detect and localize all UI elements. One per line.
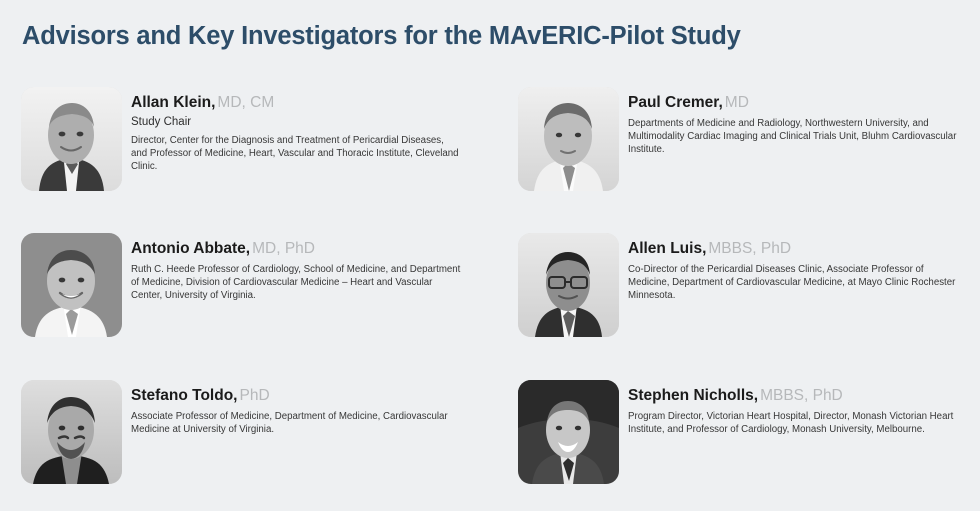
person-text: Antonio Abbate,MD, PhD Ruth C. Heede Pro… — [131, 233, 467, 303]
person-name: Stefano Toldo,PhD — [131, 386, 467, 405]
portrait-stephen-nicholls — [518, 380, 619, 484]
person-card: Stephen Nicholls,MBBS, PhD Program Direc… — [518, 380, 964, 484]
portrait-allen-luis — [518, 233, 619, 337]
person-credentials: MD, PhD — [252, 240, 315, 257]
person-card: Allen Luis,MBBS, PhD Co-Director of the … — [518, 233, 964, 337]
person-name-text: Stefano Toldo, — [131, 387, 237, 404]
person-description: Director, Center for the Diagnosis and T… — [131, 134, 461, 174]
person-card: Paul Cremer,MD Departments of Medicine a… — [518, 87, 964, 191]
person-name-text: Stephen Nicholls, — [628, 387, 758, 404]
person-description: Co-Director of the Pericardial Diseases … — [628, 263, 958, 303]
person-name: Allen Luis,MBBS, PhD — [628, 239, 964, 258]
person-credentials: PhD — [239, 387, 269, 404]
person-description: Ruth C. Heede Professor of Cardiology, S… — [131, 263, 461, 303]
person-description: Program Director, Victorian Heart Hospit… — [628, 410, 958, 436]
person-name: Stephen Nicholls,MBBS, PhD — [628, 386, 964, 405]
person-text: Stefano Toldo,PhD Associate Professor of… — [131, 380, 467, 436]
person-name-text: Allen Luis, — [628, 240, 706, 257]
person-text: Allan Klein,MD, CM Study Chair Director,… — [131, 87, 467, 174]
person-credentials: MD — [725, 94, 749, 111]
person-role: Study Chair — [131, 114, 467, 130]
page-title: Advisors and Key Investigators for the M… — [22, 22, 741, 51]
person-card: Allan Klein,MD, CM Study Chair Director,… — [21, 87, 467, 191]
portrait-paul-cremer — [518, 87, 619, 191]
advisors-page: Advisors and Key Investigators for the M… — [0, 0, 980, 511]
person-description: Associate Professor of Medicine, Departm… — [131, 410, 461, 436]
portrait-antonio-abbate — [21, 233, 122, 337]
person-name-text: Antonio Abbate, — [131, 240, 250, 257]
person-description: Departments of Medicine and Radiology, N… — [628, 117, 958, 157]
person-credentials: MBBS, PhD — [760, 387, 843, 404]
portrait-stefano-toldo — [21, 380, 122, 484]
portrait-allan-klein — [21, 87, 122, 191]
person-credentials: MBBS, PhD — [708, 240, 791, 257]
person-name: Antonio Abbate,MD, PhD — [131, 239, 467, 258]
person-text: Paul Cremer,MD Departments of Medicine a… — [628, 87, 964, 157]
person-credentials: MD, CM — [217, 94, 274, 111]
person-name-text: Allan Klein, — [131, 94, 215, 111]
person-name-text: Paul Cremer, — [628, 94, 723, 111]
person-name: Allan Klein,MD, CM — [131, 93, 467, 112]
person-card: Antonio Abbate,MD, PhD Ruth C. Heede Pro… — [21, 233, 467, 337]
person-name: Paul Cremer,MD — [628, 93, 964, 112]
person-card: Stefano Toldo,PhD Associate Professor of… — [21, 380, 467, 484]
person-text: Allen Luis,MBBS, PhD Co-Director of the … — [628, 233, 964, 303]
person-text: Stephen Nicholls,MBBS, PhD Program Direc… — [628, 380, 964, 436]
